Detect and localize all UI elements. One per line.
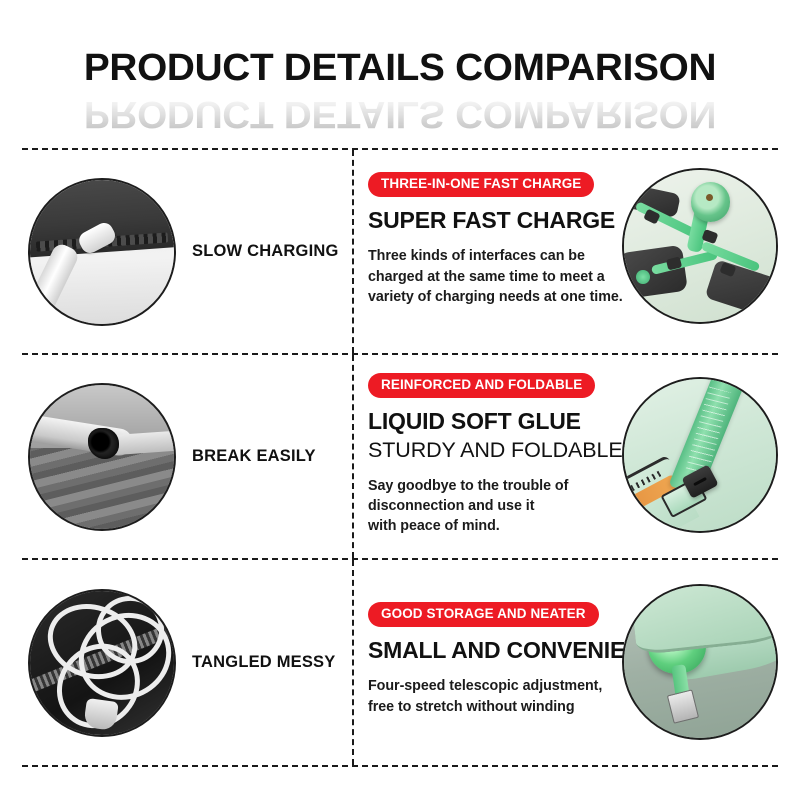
solution-photo-3 bbox=[622, 584, 778, 740]
problem-side-3: TANGLED MESSY bbox=[0, 560, 352, 765]
body-line: Four-speed telescopic adjustment, bbox=[368, 676, 636, 696]
body-line: free to stretch without winding bbox=[368, 697, 636, 717]
subheadline-2: STURDY AND FOLDABLE bbox=[368, 438, 636, 463]
body-line: Say goodbye to the trouble of bbox=[368, 476, 636, 496]
column-divider-1 bbox=[352, 150, 354, 353]
solution-side-3: GOOD STORAGE AND NEATER SMALL AND CONVEN… bbox=[352, 560, 800, 765]
problem-label-1: SLOW CHARGING bbox=[192, 242, 339, 262]
solution-side-1: THREE-IN-ONE FAST CHARGE SUPER FAST CHAR… bbox=[352, 150, 800, 353]
page-title: PRODUCT DETAILS COMPARISON bbox=[0, 47, 800, 90]
divider-bottom bbox=[22, 765, 778, 767]
body-line: charged at the same time to meet a bbox=[368, 267, 636, 287]
body-line: with peace of mind. bbox=[368, 516, 636, 536]
problem-photo-1 bbox=[28, 178, 176, 326]
solution-text-1: THREE-IN-ONE FAST CHARGE SUPER FAST CHAR… bbox=[368, 172, 636, 307]
solution-side-2: REINFORCED AND FOLDABLE LIQUID SOFT GLUE… bbox=[352, 355, 800, 558]
solution-photo-1 bbox=[622, 168, 778, 324]
body-text-2: Say goodbye to the trouble of disconnect… bbox=[368, 476, 636, 537]
headline-3: SMALL AND CONVENIENT bbox=[368, 638, 636, 664]
problem-label-3: TANGLED MESSY bbox=[192, 653, 335, 673]
headline-1: SUPER FAST CHARGE bbox=[368, 208, 636, 234]
column-divider-3 bbox=[352, 560, 354, 765]
badge-2: REINFORCED AND FOLDABLE bbox=[368, 373, 595, 398]
body-text-1: Three kinds of interfaces can be charged… bbox=[368, 246, 636, 307]
headline-2: LIQUID SOFT GLUE bbox=[368, 409, 636, 435]
header: PRODUCT DETAILS COMPARISON PRODUCT DETAI… bbox=[0, 0, 800, 148]
problem-side-1: SLOW CHARGING bbox=[0, 150, 352, 353]
comparison-row-1: SLOW CHARGING THREE-IN-ONE FAST CHARGE S… bbox=[0, 150, 800, 353]
page-title-reflection: PRODUCT DETAILS COMPARISON bbox=[0, 92, 800, 135]
body-line: Three kinds of interfaces can be bbox=[368, 246, 636, 266]
solution-text-3: GOOD STORAGE AND NEATER SMALL AND CONVEN… bbox=[368, 602, 636, 717]
column-divider-2 bbox=[352, 355, 354, 558]
solution-text-2: REINFORCED AND FOLDABLE LIQUID SOFT GLUE… bbox=[368, 373, 636, 537]
solution-photo-2 bbox=[622, 377, 778, 533]
body-line: disconnection and use it bbox=[368, 496, 636, 516]
problem-photo-3 bbox=[28, 589, 176, 737]
problem-label-2: BREAK EASILY bbox=[192, 447, 316, 467]
comparison-row-2: BREAK EASILY REINFORCED AND FOLDABLE LIQ… bbox=[0, 355, 800, 558]
comparison-row-3: TANGLED MESSY GOOD STORAGE AND NEATER SM… bbox=[0, 560, 800, 765]
badge-1: THREE-IN-ONE FAST CHARGE bbox=[368, 172, 594, 197]
body-text-3: Four-speed telescopic adjustment, free t… bbox=[368, 676, 636, 717]
badge-3: GOOD STORAGE AND NEATER bbox=[368, 602, 599, 627]
body-line: variety of charging needs at one time. bbox=[368, 287, 636, 307]
problem-side-2: BREAK EASILY bbox=[0, 355, 352, 558]
problem-photo-2 bbox=[28, 383, 176, 531]
